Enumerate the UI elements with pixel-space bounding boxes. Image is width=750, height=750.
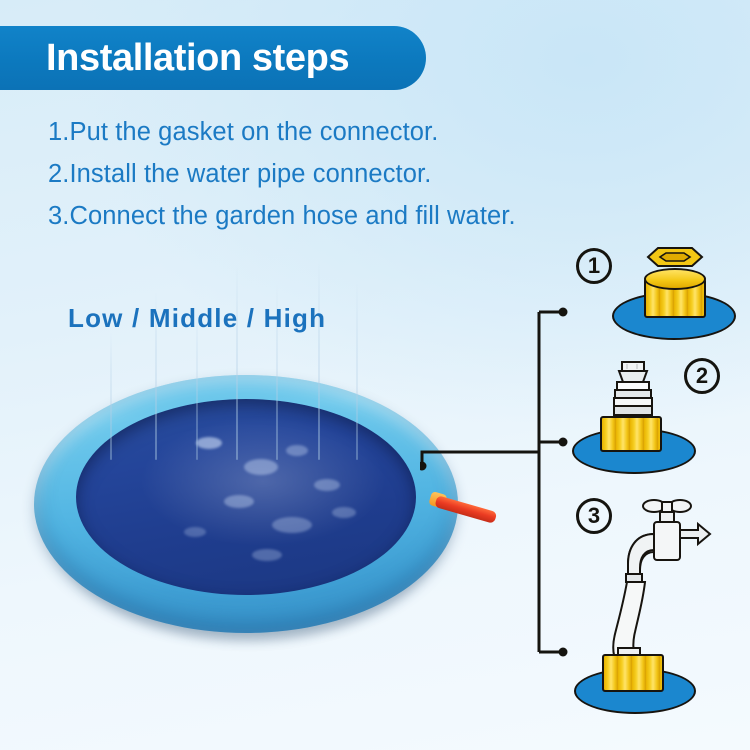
page-title: Installation steps [46,39,349,77]
gasket-icon [646,245,704,269]
spray-level-label: Low / Middle / High [68,303,326,334]
step-2-number-badge: 2 [684,358,720,394]
step-2-illustration: 2 [558,358,743,476]
pad-inner-surface [76,399,416,595]
step-1-illustration: 1 [570,244,740,344]
instruction-step-1: 1.Put the gasket on the connector. [48,111,688,153]
step-3-illustration: 3 [568,490,748,720]
step-1-number-badge: 1 [576,248,612,284]
splash-pad-product-image [18,355,468,665]
infographic-page: Installation steps 1.Put the gasket on t… [0,0,750,750]
instruction-step-3: 3.Connect the garden hose and fill water… [48,195,688,237]
water-pipe-connector-icon [604,360,662,422]
instruction-steps-list: 1.Put the gasket on the connector. 2.Ins… [48,111,688,237]
step-1-connector-rim [644,268,706,290]
step-3-number-badge: 3 [576,498,612,534]
header-banner: Installation steps [0,26,426,90]
instruction-step-2: 2.Install the water pipe connector. [48,153,688,195]
step-3-connector-nut [602,654,664,692]
